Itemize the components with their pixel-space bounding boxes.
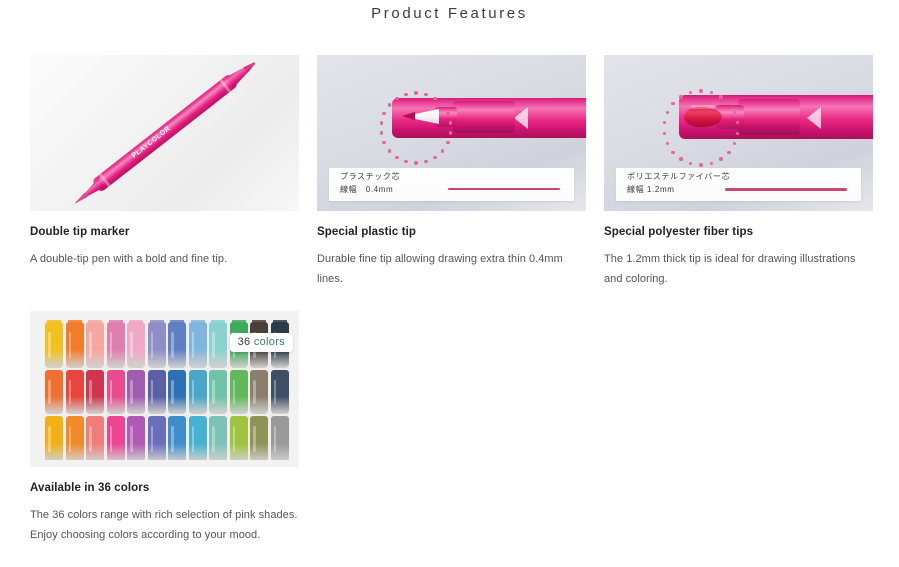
callout-line-2: 線幅 1.2mm [627, 184, 674, 195]
feature-description: The 36 colors range with rich selection … [30, 505, 299, 545]
marker-pen [230, 370, 248, 414]
marker-cap [88, 320, 102, 324]
highlight-dotted-circle [379, 91, 453, 165]
marker-pen [66, 416, 84, 460]
marker-cap [47, 320, 61, 324]
highlight-dotted-circle [662, 89, 740, 167]
pen-grip [453, 101, 515, 133]
feature-image-special-plastic-tip: プラスチック芯 線幅 0.4mm [317, 55, 586, 211]
marker-pen [250, 370, 268, 414]
marker-pen [107, 370, 125, 414]
marker-pen [189, 416, 207, 460]
feature-card-double-tip-marker[interactable]: PLAYCOLOR Double tip marker A double-tip… [30, 55, 299, 289]
marker-pen [148, 322, 166, 368]
marker-pen [209, 322, 227, 368]
feature-card-available-in-36-colors[interactable]: 36 colors Available in 36 colors The 36 … [30, 311, 299, 545]
feature-image-special-polyester-fiber-tips: ポリエステルファイバー芯 線幅 1.2mm [604, 55, 873, 211]
marker-pen [45, 322, 63, 368]
marker-pen [250, 416, 268, 460]
feature-description: A double-tip pen with a bold and fine ti… [30, 249, 299, 269]
feature-title: Special plastic tip [317, 226, 586, 238]
callout-box-plastic-tip: プラスチック芯 線幅 0.4mm [329, 168, 574, 201]
marker-pen [168, 416, 186, 460]
marker-pen [189, 370, 207, 414]
callout-line-1: プラスチック芯 [340, 171, 400, 182]
line-width-sample [448, 188, 560, 190]
marker-pen [209, 370, 227, 414]
pen-arrow-marking [807, 107, 821, 129]
marker-pen [86, 370, 104, 414]
feature-image-double-tip-marker: PLAYCOLOR [30, 55, 299, 211]
marker-column [65, 320, 86, 460]
marker-pen [127, 322, 145, 368]
double-tip-pen-illustration: PLAYCOLOR [70, 57, 259, 209]
line-width-sample [725, 188, 847, 191]
marker-column [167, 320, 188, 460]
pen-fine-tip [73, 193, 87, 206]
marker-pen [66, 322, 84, 368]
marker-cap [211, 320, 225, 324]
marker-column [44, 320, 65, 460]
pen-grip [738, 99, 800, 135]
marker-pen [271, 370, 289, 414]
marker-pen [209, 416, 227, 460]
callout-line-1: ポリエステルファイバー芯 [627, 171, 730, 182]
marker-cap [129, 320, 143, 324]
feature-card-special-polyester-fiber-tips[interactable]: ポリエステルファイバー芯 線幅 1.2mm Special polyester … [604, 55, 873, 289]
page-title: Product Features [0, 5, 899, 22]
marker-cap [252, 320, 266, 324]
marker-cap [191, 320, 205, 324]
marker-column [126, 320, 147, 460]
marker-pen [107, 322, 125, 368]
marker-pen [230, 416, 248, 460]
marker-cap [68, 320, 82, 324]
marker-pen [148, 370, 166, 414]
color-count-badge: 36 colors [230, 333, 293, 352]
marker-cap [273, 320, 287, 324]
marker-cap [150, 320, 164, 324]
marker-pen [148, 416, 166, 460]
feature-image-available-in-36-colors: 36 colors [30, 311, 299, 467]
callout-line-2: 線幅 0.4mm [340, 184, 393, 195]
marker-pen [168, 322, 186, 368]
marker-column [147, 320, 168, 460]
marker-cap [232, 320, 246, 324]
marker-pen [127, 370, 145, 414]
marker-column [106, 320, 127, 460]
pen-arrow-marking [514, 107, 528, 129]
feature-grid: PLAYCOLOR Double tip marker A double-tip… [30, 55, 885, 567]
feature-card-special-plastic-tip[interactable]: プラスチック芯 線幅 0.4mm Special plastic tip Dur… [317, 55, 586, 289]
pen-brand-label: PLAYCOLOR [130, 125, 171, 160]
marker-pen [271, 416, 289, 460]
marker-pen [86, 322, 104, 368]
marker-pen [107, 416, 125, 460]
marker-pen [168, 370, 186, 414]
marker-cap [170, 320, 184, 324]
feature-description: The 1.2mm thick tip is ideal for drawing… [604, 249, 873, 289]
callout-box-fiber-tip: ポリエステルファイバー芯 線幅 1.2mm [616, 168, 861, 201]
marker-pen [45, 370, 63, 414]
feature-title: Available in 36 colors [30, 482, 299, 494]
marker-pen [66, 370, 84, 414]
badge-number: 36 [238, 336, 251, 348]
feature-title: Double tip marker [30, 226, 299, 238]
marker-pen [86, 416, 104, 460]
feature-description: Durable fine tip allowing drawing extra … [317, 249, 586, 289]
feature-title: Special polyester fiber tips [604, 226, 873, 238]
marker-pen [45, 416, 63, 460]
badge-word: colors [254, 336, 285, 348]
marker-pen [127, 416, 145, 460]
marker-column [85, 320, 106, 460]
marker-cap [109, 320, 123, 324]
marker-column [208, 320, 229, 460]
marker-column [188, 320, 209, 460]
marker-pen [189, 322, 207, 368]
